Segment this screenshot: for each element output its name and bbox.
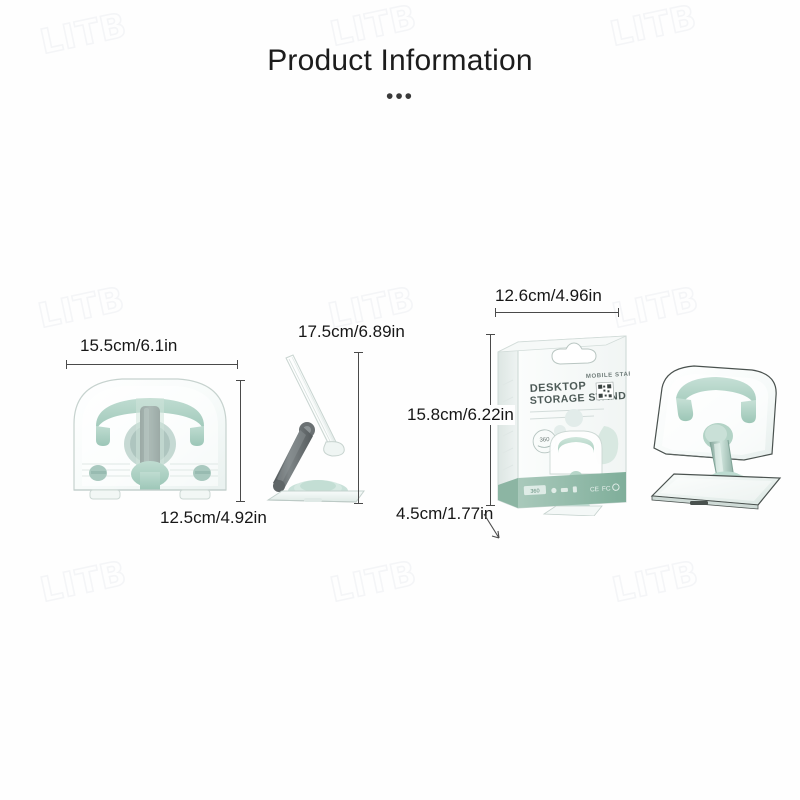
product-art-three-quarter [632,362,797,510]
title-dots: ••• [0,92,800,102]
dimension-line-width [66,364,238,365]
figure-product-three-quarter-view [620,0,800,800]
product-art-folded-front [60,372,240,512]
dimension-label-width-15-5cm: 15.5cm/6.1in [80,336,177,356]
dimension-line-width [495,312,619,313]
dimension-label-depth-4-5cm: 4.5cm/1.77in [396,504,493,524]
product-art-side-view [260,350,370,508]
product-information-page: LITB LITB LITB LITB LITB LITB LITB LITB … [0,0,800,800]
dimension-arrow-depth [482,512,508,549]
figure-retail-package-box: 12.6cm/4.96in 15.8cm/6.22in 4.5cm/1.77in [390,0,650,800]
dimension-label-height-15-8cm: 15.8cm/6.22in [406,405,515,425]
dimension-line-height [240,380,241,502]
dimension-line-height [358,352,359,504]
svg-text:FC: FC [602,485,611,492]
page-title: Product Information [0,44,800,78]
svg-text:360: 360 [530,488,539,494]
svg-text:360: 360 [539,437,550,444]
page-header: Product Information ••• [0,44,800,102]
dimension-label-width-12-6cm: 12.6cm/4.96in [495,286,602,306]
svg-text:CE: CE [590,486,600,493]
dimension-label-height-17-5cm: 17.5cm/6.89in [298,322,405,342]
figure-unfolded-side-view: 17.5cm/6.89in [250,0,410,800]
